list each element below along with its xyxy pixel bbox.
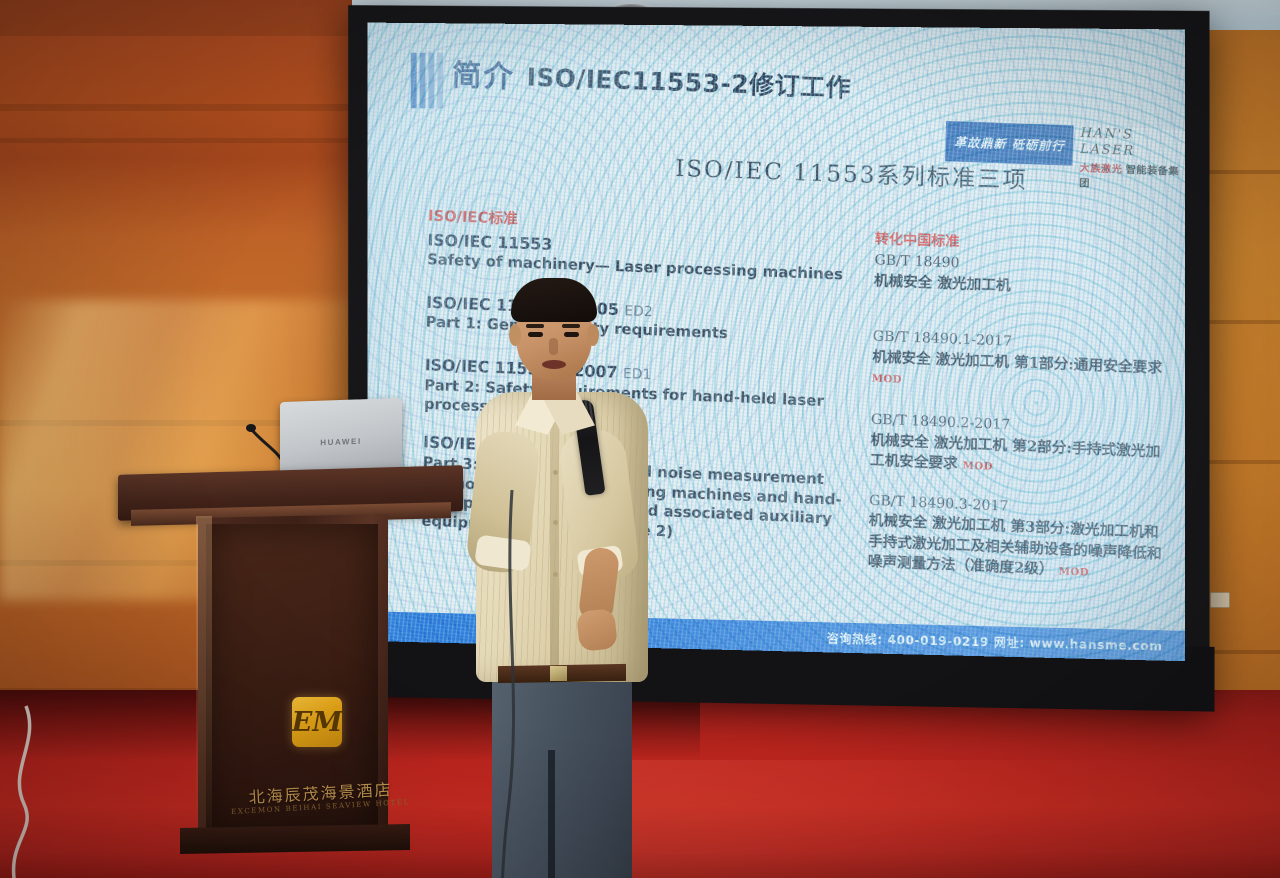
presenter-eye-right (564, 332, 579, 337)
power-cable (0, 700, 120, 878)
presenter-ear-left (509, 324, 521, 346)
laptop-on-podium: HUAWEI (280, 398, 402, 474)
laptop-brand-label: HUAWEI (320, 437, 362, 447)
presenter-eyebrow-right (562, 324, 580, 328)
presenter-eyebrow-left (526, 324, 544, 328)
mod-badge: MOD (963, 461, 993, 473)
gb-desc-text: 机械安全 激光加工机 第3部分:激光加工机和手持式激光加工及相关辅助设备的噪声降… (868, 512, 1162, 579)
presentation-photo-scene: 简介 ISO/IEC11553-2修订工作 革故鼎新 砥砺前行 HAN'S LA… (0, 0, 1280, 878)
title-accent-bars-icon (411, 53, 444, 109)
brand-cn-primary: 大族激光 (1080, 162, 1123, 175)
brand-mark: HAN'S LASER 大族激光 智能装备集团 (1073, 125, 1185, 169)
microphone-cable (474, 490, 554, 878)
mod-badge: MOD (1059, 567, 1090, 579)
gb-desc: 机械安全 激光加工机 第3部分:激光加工机和手持式激光加工及相关辅助设备的噪声降… (868, 511, 1173, 586)
wall-outlet-right (1210, 592, 1230, 608)
shirt-button (553, 470, 558, 475)
brand-name-en: HAN'S LASER (1080, 126, 1185, 163)
gb-entry: GB/T 18490.1-2017 机械安全 激光加工机 第1部分:通用安全要求… (872, 328, 1177, 401)
podium-base (180, 824, 410, 854)
presenter (470, 280, 660, 878)
gb-standards-column: 转化中国标准 GB/T 18490 机械安全 激光加工机 GB/T 18490.… (867, 228, 1179, 603)
podium-edge-highlight (196, 516, 212, 846)
presenter-mouth (542, 360, 566, 369)
presenter-nose (549, 338, 558, 355)
presenter-eye-left (528, 332, 543, 337)
presenter-ear-right (587, 324, 599, 346)
hotel-monogram-icon: EM (292, 697, 342, 747)
brand-name-cn: 大族激光 智能装备集团 (1079, 158, 1185, 192)
gb-entry: GB/T 18490.2-2017 机械安全 激光加工机 第2部分:手持式激光加… (870, 410, 1175, 484)
slide-title-en: ISO/IEC11553-2修订工作 (526, 58, 851, 105)
presenter-hair (511, 278, 597, 322)
gb-entry: GB/T 18490 机械安全 激光加工机 (874, 251, 1179, 303)
presenter-hand-right (576, 608, 618, 652)
carpet-highlight (600, 760, 1280, 878)
mod-badge: MOD (872, 374, 902, 386)
slide-title-cn: 简介 (452, 50, 516, 95)
gb-entry: GB/T 18490.3-2017 机械安全 激光加工机 第3部分:激光加工机和… (868, 491, 1173, 586)
